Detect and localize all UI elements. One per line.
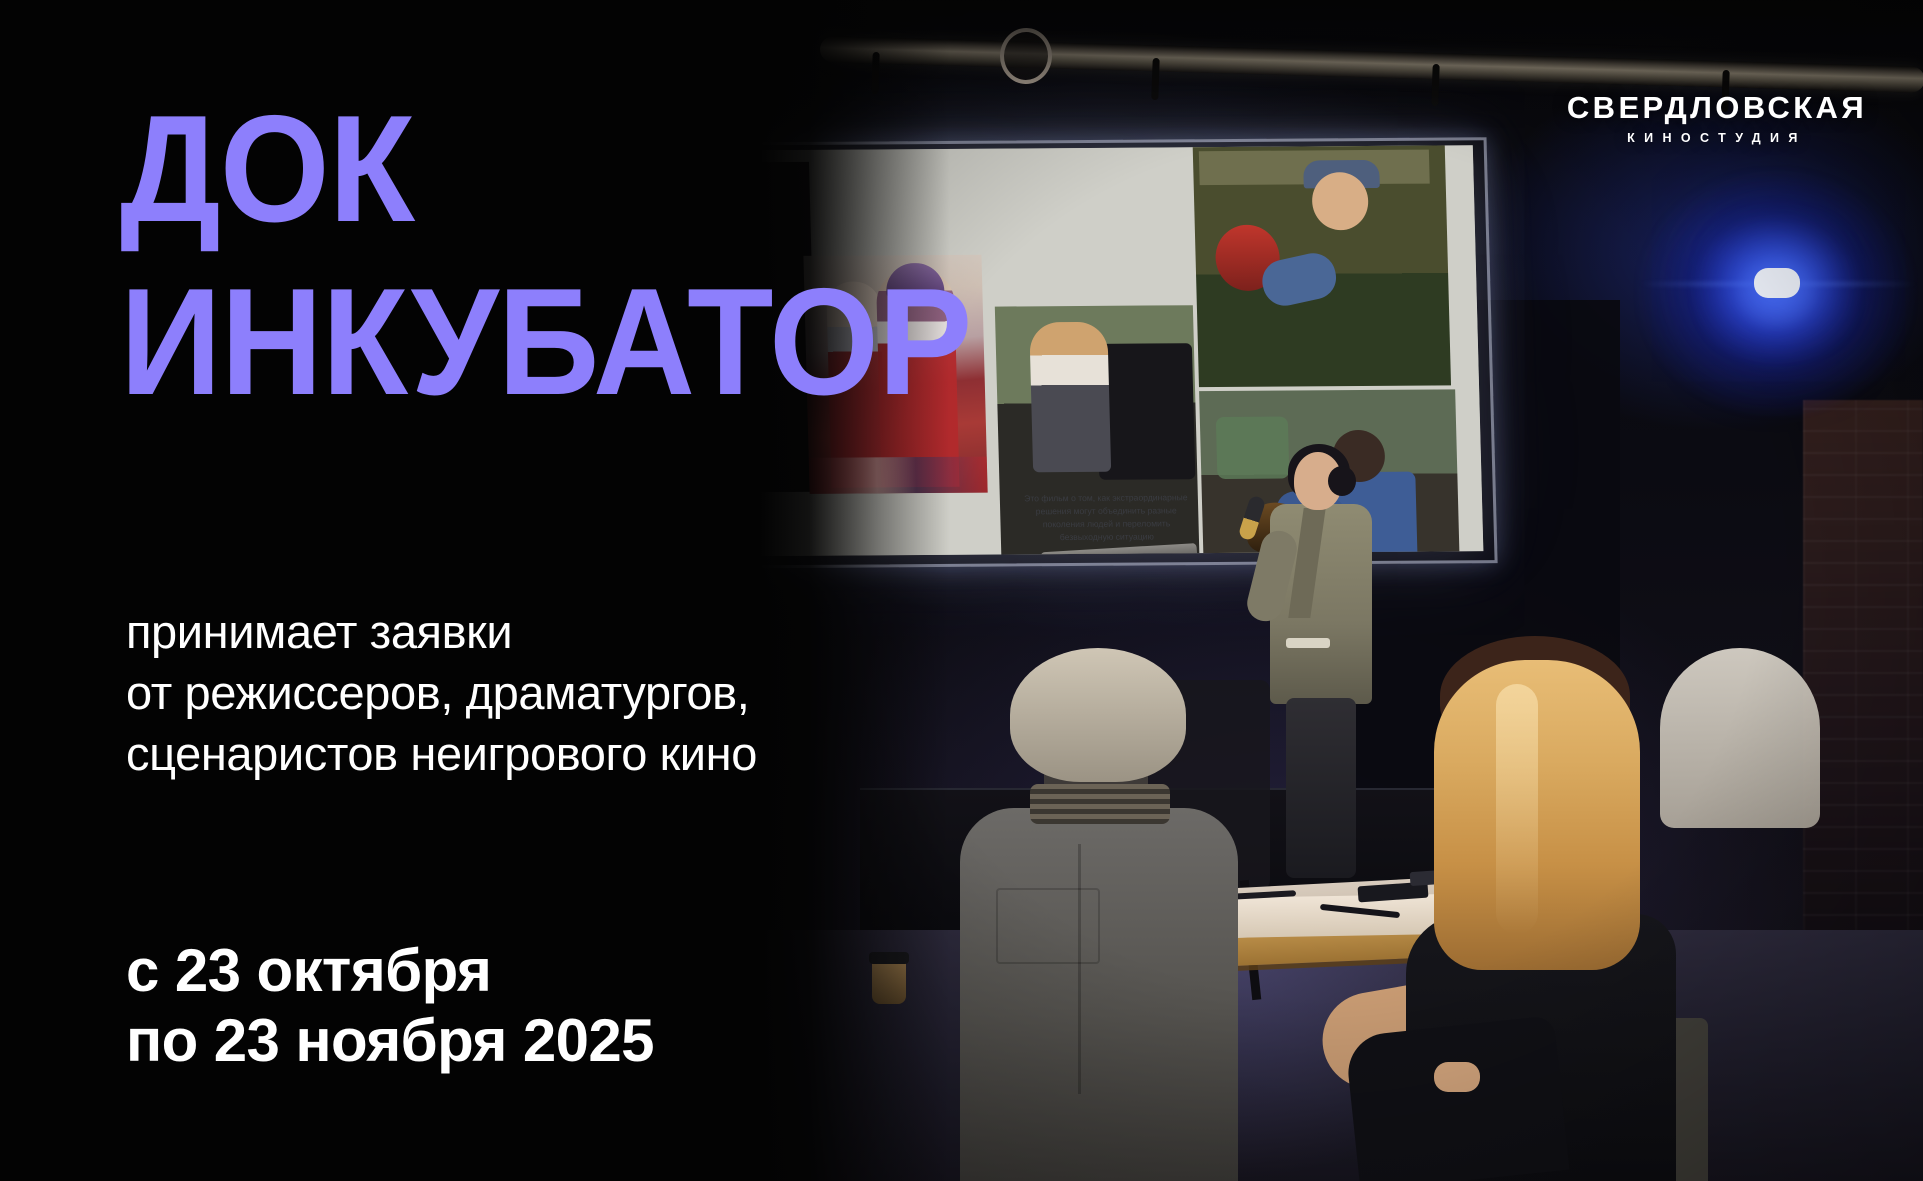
studio-logo-main: СВЕРДЛОВСКАЯ xyxy=(1567,92,1867,123)
page-title: ДОК ИНКУБАТОР xyxy=(120,96,1035,417)
body-text: принимает заявки от режиссеров, драматур… xyxy=(126,601,757,784)
date-line-1: с 23 октября xyxy=(126,936,654,1006)
headline-line-2: ИНКУБАТОР xyxy=(120,269,971,416)
studio-logo-sub: КИНОСТУДИЯ xyxy=(1567,131,1867,145)
headline-line-1: ДОК xyxy=(120,96,971,243)
studio-logo: СВЕРДЛОВСКАЯ КИНОСТУДИЯ xyxy=(1567,92,1867,145)
body-line-1: принимает заявки xyxy=(126,601,757,662)
body-line-2: от режиссеров, драматургов, xyxy=(126,662,757,723)
date-line-2: по 23 ноября 2025 xyxy=(126,1006,654,1076)
body-line-3: сценаристов неигрового кино xyxy=(126,723,757,784)
date-range: с 23 октября по 23 ноября 2025 xyxy=(126,936,654,1076)
poster-root: Это фильм о том, как экстраординарные ре… xyxy=(0,0,1923,1181)
